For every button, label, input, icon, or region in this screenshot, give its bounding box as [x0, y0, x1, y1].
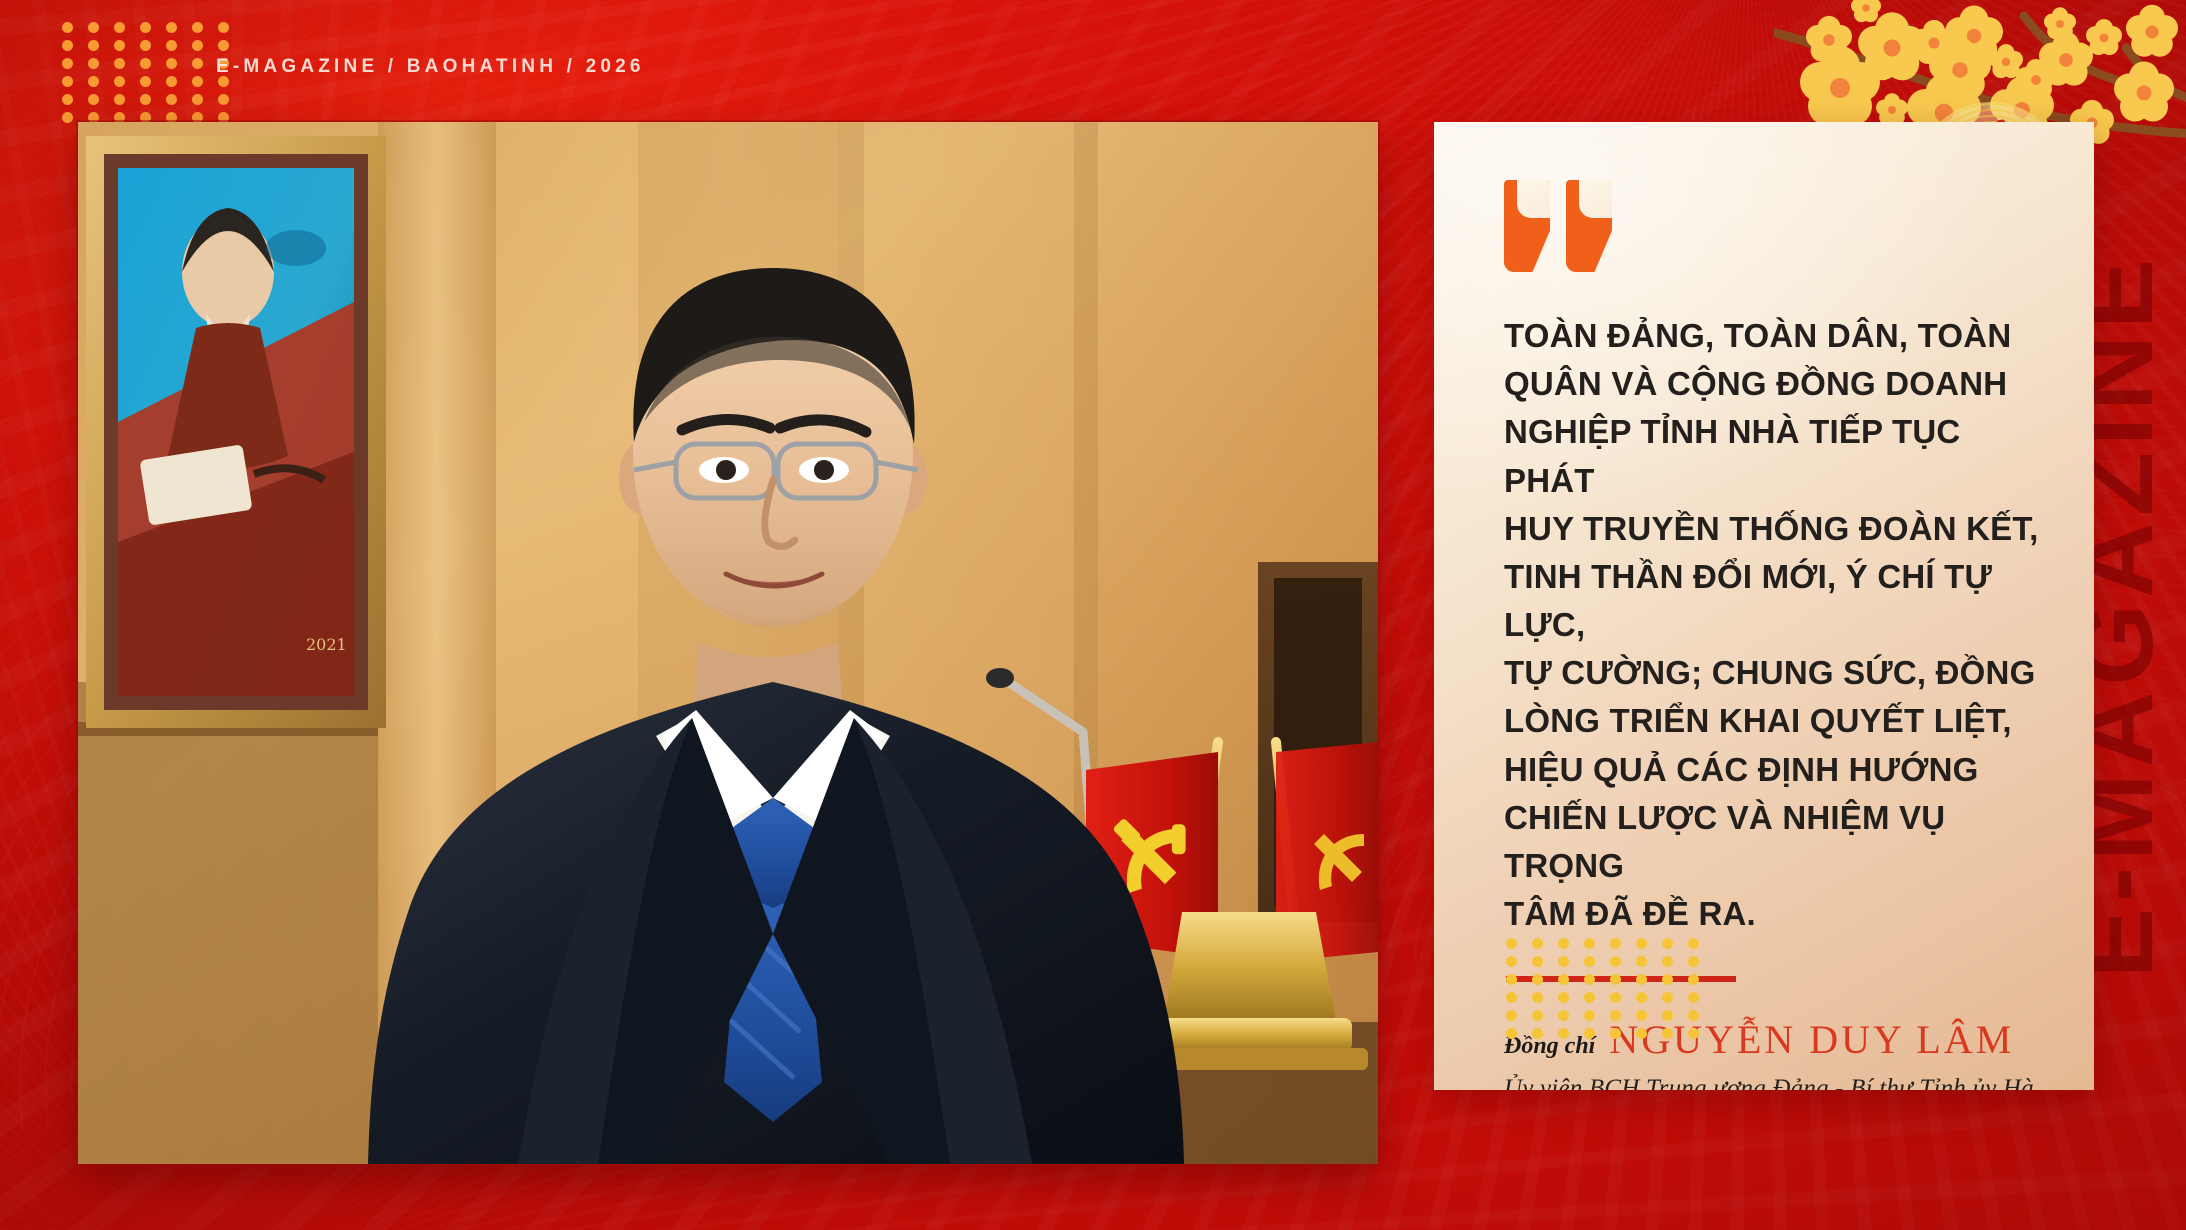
svg-text:2021: 2021 — [306, 635, 347, 654]
header-kicker: E-MAGAZINE / BAOHATINH / 2026 — [216, 56, 645, 78]
quote-text: TOÀN ĐẢNG, TOÀN DÂN, TOÀN QUÂN VÀ CỘNG Đ… — [1504, 312, 2046, 938]
e-magazine-cover: E-MAGAZINE E-MAGAZINE / BAOHATINH / 2026 — [0, 0, 2186, 1230]
panel-dot-grid — [1506, 938, 1714, 1046]
attribution-role: Ủy viên BCH Trung ương Đảng - Bí thư Tỉn… — [1504, 1075, 2046, 1090]
quotation-mark-icon — [1504, 180, 1624, 272]
quote-panel: TOÀN ĐẢNG, TOÀN DÂN, TOÀN QUÂN VÀ CỘNG Đ… — [1434, 122, 2094, 1090]
portrait-photo: 2021 — [78, 122, 1378, 1164]
